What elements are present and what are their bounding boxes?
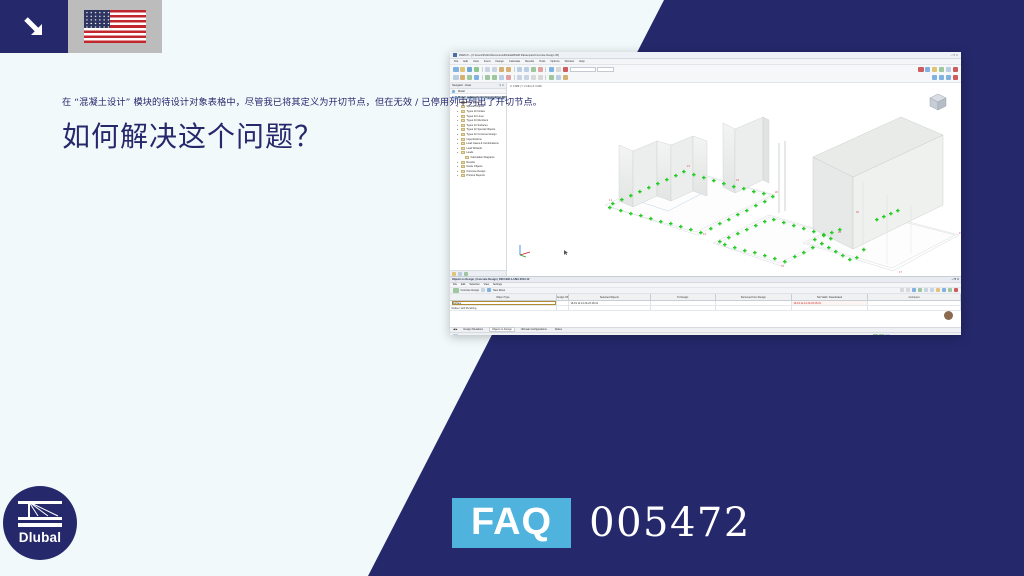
column-header: Comment [868,294,961,300]
menu-item[interactable]: Insert [484,60,491,63]
cell-object-type[interactable]: Nodes / with Punching [450,306,557,310]
new-row-icon[interactable] [487,288,491,292]
panel-title: Objects to Design | Concrete Design | DI… [452,278,529,281]
menu-item[interactable]: Edit [463,60,468,63]
panel-module-select[interactable]: Concrete Design [461,289,480,292]
delete-row-icon[interactable] [954,288,958,292]
tab-prev-icon[interactable]: ◀ ▶ [453,328,458,331]
filter-icon[interactable] [912,288,916,292]
material-icon[interactable] [506,75,512,81]
tree-node-label: Types for Surfaces [466,124,487,127]
toolbar[interactable] [450,65,961,83]
nav-filter-icon[interactable] [464,272,468,276]
navigator-panel: Navigator - Data ⚲ ✕ Model ▾ Model: gebi… [450,83,507,276]
paste-icon[interactable] [506,67,512,73]
navigator-footer[interactable] [450,270,506,276]
rfem-screenshot: RFEM 6 – [C:\Users\Public\Documents\Dlub… [450,52,961,335]
united-states-flag-icon [68,0,162,53]
cell-selected-objects[interactable] [569,306,651,310]
table-header-row: Object Type Design Off Selected Objects … [450,294,961,301]
print-table-icon[interactable] [942,288,946,292]
tree-node-label: Imperfections [466,138,481,141]
load-icon[interactable] [517,75,523,81]
svg-text:17: 17 [899,271,902,274]
measure-icon[interactable] [556,75,562,81]
faq-number: 005472 [589,500,751,546]
cell-selected-objects[interactable]: 16-19 11-14 20-23 28-31 [569,301,651,305]
mouse-cursor-icon [564,250,567,254]
new-icon[interactable] [453,67,459,73]
model-canvas[interactable]: X: 4.689 | Y: 2.194 | Z: 0.000 [507,83,961,276]
fit-icon[interactable] [531,67,537,73]
tree-node-label: Types for Concrete Design [466,133,496,136]
question-headline: 如何解决这个问题？ [62,118,432,156]
tree-node-label: Guide Objects [466,165,482,168]
status-select-icon[interactable] [453,334,458,335]
tree-node-label: Load Cases & Combinations [466,142,498,145]
menu-item[interactable]: Help [579,60,585,63]
tree-node-label: Load Wizards [466,147,482,150]
cell-comment[interactable] [868,301,961,305]
table-row[interactable]: Nodes / with Punching [450,306,961,311]
help-icon[interactable] [932,67,938,73]
status-scale: 1: 1.000 m [920,335,931,336]
scale-select[interactable] [597,67,614,72]
combination-icon[interactable] [524,75,530,81]
column-header: Selected Objects [569,294,651,300]
grid-toggle-icon[interactable] [879,334,884,335]
tree-node-label: Concrete Design [466,170,485,173]
menu-item[interactable]: Design [496,60,504,63]
statusbar[interactable]: Select Objects CS: Global XYZ Step: 10 1… [450,332,961,335]
table-next-icon[interactable] [906,288,910,292]
settings-table-icon[interactable] [948,288,952,292]
question-context: 在 “混凝土设计” 模块的待设计对象表格中，尽管我已将其定义为开切节点，但在无效… [62,96,432,109]
panel-menu-item[interactable]: File [453,283,457,286]
info-icon[interactable] [925,67,931,73]
dropdown-arrow-icon[interactable] [481,288,485,292]
render-icon[interactable] [538,67,544,73]
cell-comment[interactable] [868,306,961,310]
navigator-tab-model[interactable]: Model [458,90,465,93]
ortho-toggle-icon[interactable] [885,334,890,335]
window-controls[interactable]: – ❐ ✕ [951,54,961,57]
main-body: Navigator - Data ⚲ ✕ Model ▾ Model: gebi… [450,83,961,276]
menu-item[interactable]: Window [565,60,575,63]
cell-to-design[interactable] [651,306,716,310]
zoom-icon[interactable] [517,67,523,73]
column-header: Design Off [557,294,569,300]
nav-expand-icon[interactable] [452,272,456,276]
tab-design-situations[interactable]: Design Situations [462,328,485,331]
line-icon[interactable] [460,75,466,81]
status-step: Step: 10 [910,335,919,336]
cell-design-off[interactable] [557,301,569,305]
svg-text:14: 14 [703,233,706,236]
tree-node-label: Printout Reports [466,174,484,177]
arrow-down-right-icon [0,0,68,53]
navigator-title: Navigator - Data [452,84,471,87]
table-prev-icon[interactable] [900,288,904,292]
column-header: Object Type [450,294,557,300]
faq-badge: FAQ [452,498,571,548]
redo-icon[interactable] [492,67,498,73]
status-left-text: Select Objects [459,335,474,336]
objects-table[interactable]: Object Type Design Off Selected Objects … [450,294,961,327]
pan-icon[interactable] [524,67,530,73]
panel-new-rows-button[interactable]: New Rows [493,289,505,292]
view-iso-icon[interactable] [946,75,952,81]
tab-objects-to-design[interactable]: Objects to Design [489,327,515,332]
panel-menu-item[interactable]: Settings [493,283,502,286]
tree-node-label: Results [466,161,475,164]
cell-design-off[interactable] [557,306,569,310]
tree-node[interactable]: ▸Printout Reports [452,174,506,179]
column-header: Removed from Design [716,294,792,300]
coordinate-axes-icon [517,242,533,258]
structural-model-3d[interactable]: 2123 1126 1431 2819 1720 [507,83,961,276]
calculate-icon[interactable] [549,67,555,73]
load-case-select[interactable] [570,67,596,72]
faq-footer: FAQ 005472 [452,498,751,548]
tree-node-label: Types for Special Objects [466,128,495,131]
design-module-icon [453,288,459,294]
toolbar-row-1[interactable] [453,66,958,73]
menu-item[interactable]: Options [550,60,559,63]
cell-to-design[interactable] [651,301,716,305]
stop-icon[interactable] [563,67,569,73]
window-titlebar: RFEM 6 – [C:\Users\Public\Documents\Dlub… [450,52,961,59]
svg-text:26: 26 [775,191,778,194]
flag-graphic [84,10,146,43]
navigator-tree[interactable]: ▾ Model: gebilge Deckenkonstruktion (RF6… [450,94,506,270]
copy-icon[interactable] [499,67,505,73]
svg-text:19: 19 [959,232,961,235]
panel-tabs[interactable]: ◀ ▶ Design Situations Objects to Design … [450,327,961,333]
panel-menu-item[interactable]: Edit [461,283,465,286]
member-icon[interactable] [467,75,473,81]
panel-menu-item[interactable]: Selection [469,283,479,286]
view-top-icon[interactable] [939,75,945,81]
column-header: Not Valid / Deactivated [792,294,868,300]
settings-icon[interactable] [939,67,945,73]
question-block: 在 “混凝土设计” 模块的待设计对象表格中，尽管我已将其定义为开切节点，但在无效… [62,96,432,156]
results-icon[interactable] [556,67,562,73]
tree-node-label: Types for Nodes [466,110,485,113]
corner-badges [0,0,162,53]
status-x: X: 1.00 m [933,335,943,336]
cell-removed[interactable] [716,301,792,305]
warning-icon[interactable] [918,67,924,73]
nav-collapse-icon[interactable] [458,272,462,276]
node-icon[interactable] [453,75,459,81]
cell-removed[interactable] [716,306,792,310]
menu-item[interactable]: View [473,60,479,63]
sort-icon[interactable] [918,288,922,292]
avatar[interactable] [944,311,953,320]
grid-icon[interactable] [531,75,537,81]
dimension-icon[interactable] [549,75,555,81]
view-cube-icon[interactable] [927,91,949,113]
snap-toggle-icon[interactable] [873,334,878,335]
snap-icon[interactable] [538,75,544,81]
status-cs: CS: Global XYZ [891,335,908,336]
annotate-icon[interactable] [563,75,569,81]
model-tab-icon [452,90,455,93]
menu-item[interactable]: Calculate [509,60,520,63]
hinge-icon[interactable] [492,75,498,81]
layers-icon[interactable] [946,67,952,73]
view-front-icon[interactable] [932,75,938,81]
status-snap: Snap 0.50 m [944,335,958,336]
section-icon[interactable] [499,75,505,81]
column-header: To Design [651,294,716,300]
tree-node-label: Types for Lines [466,115,483,118]
tree-node-label: Loads [466,151,473,154]
navigator-pin-icon[interactable]: ⚲ ✕ [499,84,504,87]
menu-item[interactable]: Tools [539,60,545,63]
slide-canvas: 在 “混凝土设计” 模块的待设计对象表格中，尽管我已将其定义为开切节点，但在无效… [0,0,1024,576]
delete-icon[interactable] [953,75,959,81]
support-icon[interactable] [485,75,491,81]
dlubal-wordmark: Dlubal [19,530,61,545]
dlubal-truss-logo-icon [18,501,62,527]
menu-item[interactable]: File [454,60,458,63]
menu-item[interactable]: Results [525,60,534,63]
open-icon[interactable] [460,67,466,73]
select-all-icon[interactable] [924,288,928,292]
objects-to-design-panel: Objects to Design | Concrete Design | DI… [450,276,961,332]
cell-not-valid[interactable] [792,306,868,310]
close-view-icon[interactable] [953,67,959,73]
cell-not-valid[interactable]: 16-19 11-14 20-23 28-31 [792,301,868,305]
tab-nodes[interactable]: Nodes [553,328,564,331]
export-icon[interactable] [936,288,940,292]
window-title: RFEM 6 – [C:\Users\Public\Documents\Dlub… [459,54,949,57]
surface-icon[interactable] [474,75,480,81]
panel-menu-item[interactable]: View [484,283,489,286]
tree-node-label: Types for Members [466,119,488,122]
deselect-icon[interactable] [930,288,934,292]
undo-icon[interactable] [485,67,491,73]
toolbar-row-2[interactable] [453,74,958,81]
svg-text:31: 31 [781,265,784,268]
panel-close-icon[interactable]: – ❐ ✕ [952,278,959,281]
print-icon[interactable] [474,67,480,73]
dlubal-logo: Dlubal [3,486,77,560]
cell-object-type[interactable]: Surface [452,301,556,305]
app-icon [453,53,457,57]
tree-node-label: Calculation Diagrams [470,156,494,159]
save-icon[interactable] [467,67,473,73]
tab-ultimate-configurations[interactable]: Ultimate Configurations [519,328,549,331]
